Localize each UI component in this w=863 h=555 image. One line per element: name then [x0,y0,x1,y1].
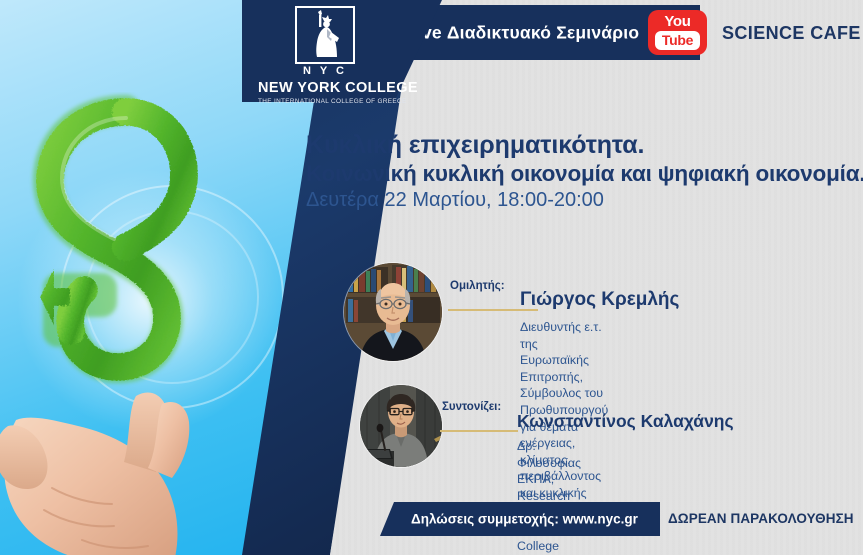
registration-text: Δηλώσεις συμμετοχής: www.nyc.gr [411,512,638,527]
youtube-icon[interactable]: You Tube [648,10,707,55]
registration-banner[interactable]: Δηλώσεις συμμετοχής: www.nyc.gr [380,502,660,536]
logo-subtitle: THE INTERNATIONAL COLLEGE OF GREECE [258,99,392,105]
moderator-name: Κωνσταντίνος Καλαχάνης [517,411,734,432]
speaker-role-label: Ομιλητής: [450,280,505,292]
moderator-portrait-photo [360,385,442,467]
live-webinar-label: Live Διαδικτυακό Σεμινάριο [406,22,639,43]
moderator-affiliation: Δρ. Φιλοσοφίας ΕΚΠΑ, Research Coordinato… [517,438,585,554]
speaker-portrait-photo [344,263,442,361]
speaker-name: Γιώργος Κρεμλής [520,289,679,311]
page-title-line1: Κυκλική επιχειρηματικότητα. [306,131,644,160]
logo-name: NEW YORK COLLEGE [258,81,392,96]
moderator-role-label: Συντονίζει: [442,401,501,413]
open-hand-icon [0,300,236,555]
webinar-poster: N Y C NEW YORK COLLEGE THE INTERNATIONAL… [0,0,863,555]
statue-of-liberty-icon [295,6,355,64]
youtube-you-text: You [648,14,707,29]
moderator-connector-rule [440,430,518,432]
event-datetime: Δευτέρα 22 Μαρτίου, 18:00-20:00 [306,189,604,212]
new-york-college-logo: N Y C NEW YORK COLLEGE THE INTERNATIONAL… [258,6,392,98]
logo-letters: N Y C [258,66,392,77]
page-title-line2: Κοινωνική κυκλική οικονομία και ψηφιακή … [306,161,863,187]
science-cafe-brand: SCIENCE CAFE [722,23,861,44]
free-attendance-label: ΔΩΡΕΑΝ ΠΑΡΑΚΟΛΟΥΘΗΣΗ [668,511,854,526]
youtube-tube-text: Tube [655,31,700,50]
